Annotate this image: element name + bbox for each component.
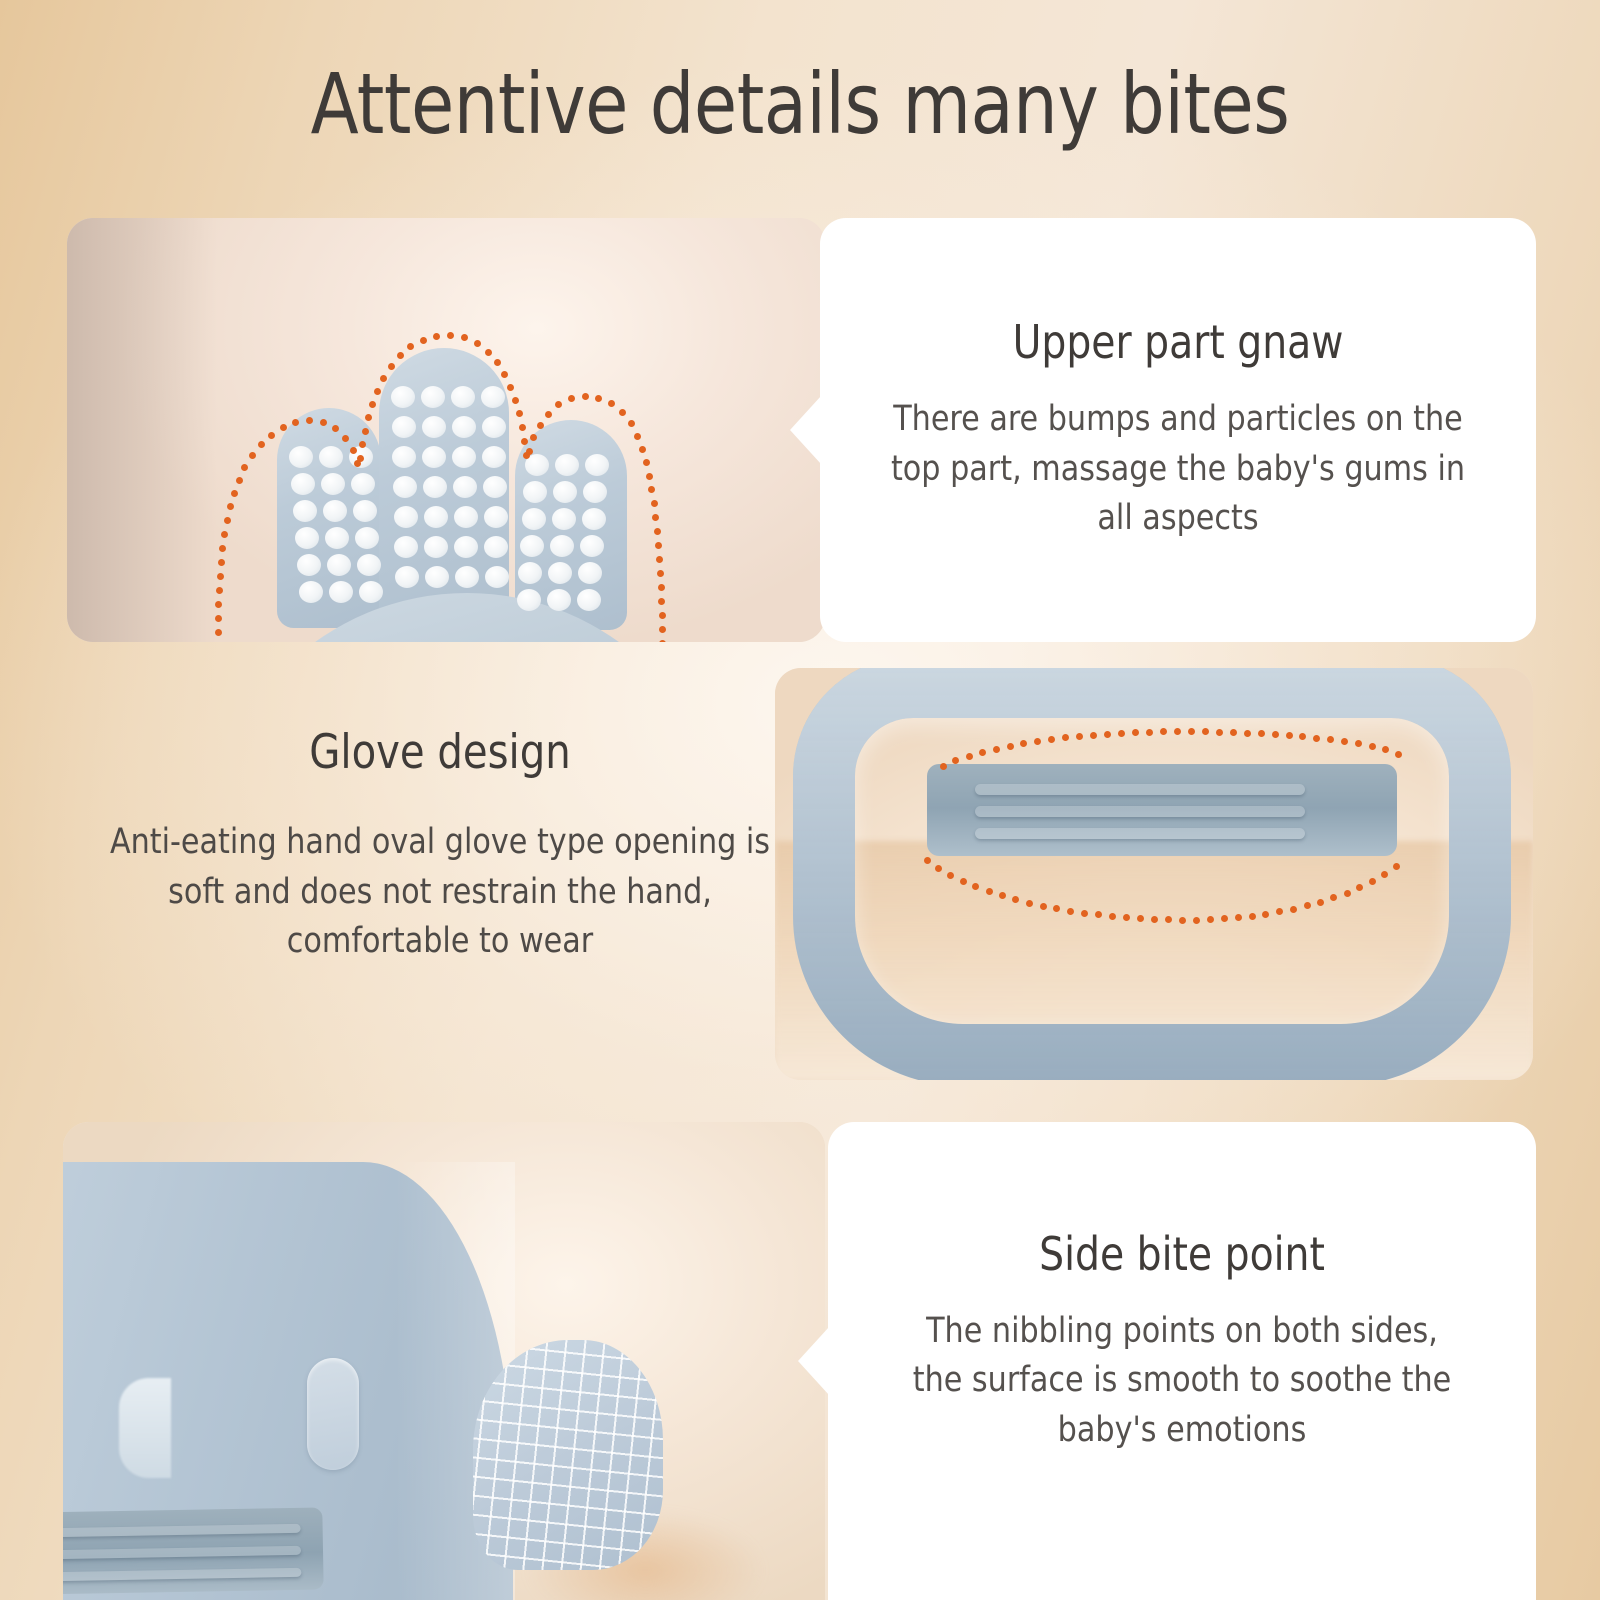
annotation-dot [224, 517, 231, 524]
annotation-dot [1146, 729, 1153, 736]
side-bite-point [473, 1340, 663, 1570]
annotation-dot [1355, 740, 1362, 747]
annotation-dot [1290, 906, 1297, 913]
bump-particle [454, 506, 478, 528]
annotation-dot [1193, 917, 1200, 924]
annotation-dot [521, 438, 528, 445]
annotation-dot [940, 763, 947, 770]
product-photo-glove-opening [775, 668, 1533, 1080]
annotation-dot [494, 359, 501, 366]
annotation-dot [215, 601, 222, 608]
card-heading: Side bite point [901, 1228, 1463, 1281]
annotation-dot [1081, 910, 1088, 917]
annotation-dot [1249, 913, 1256, 920]
annotation-dot [507, 384, 514, 391]
bump-particle [319, 446, 343, 468]
annotation-dot [1104, 731, 1111, 738]
bump-particle [392, 416, 416, 438]
bump-particle [483, 476, 507, 498]
bump-particle [550, 535, 574, 557]
annotation-dot [582, 393, 589, 400]
bump-particle [357, 554, 381, 576]
annotation-dot [651, 500, 658, 507]
bump-particle [359, 581, 383, 603]
product-photo-side-bite-point [63, 1122, 825, 1600]
annotation-dot [1123, 914, 1130, 921]
bump-particle [353, 500, 377, 522]
annotation-dot [420, 337, 427, 344]
bump-particle [482, 416, 506, 438]
annotation-dot [646, 473, 653, 480]
annotation-dot [485, 349, 492, 356]
annotation-dot [656, 556, 663, 563]
info-block-glove-design: Glove design Anti-eating hand oval glove… [70, 726, 810, 967]
bump-particle [453, 476, 477, 498]
annotation-dot [1067, 908, 1074, 915]
annotation-dot [519, 424, 526, 431]
bump-particle [517, 589, 541, 611]
annotation-dot [1369, 878, 1376, 885]
annotation-dot [374, 388, 381, 395]
annotation-dot [639, 446, 646, 453]
ribbed-bar [63, 1507, 324, 1594]
bump-particle [351, 473, 375, 495]
annotation-dot [1258, 730, 1265, 737]
bump-particle [295, 527, 319, 549]
bump-particle [325, 527, 349, 549]
annotation-dot [1040, 903, 1047, 910]
annotation-dot [1272, 731, 1279, 738]
bump-particle [421, 386, 445, 408]
annotation-dot [526, 448, 533, 455]
card-body-text: The nibbling points on both sides, the s… [898, 1307, 1466, 1456]
annotation-dot [1235, 914, 1242, 921]
bump-particle [555, 454, 579, 476]
bump-particle [522, 508, 546, 530]
annotation-dot [1216, 729, 1223, 736]
annotation-dot [1393, 863, 1400, 870]
teether-crown [267, 338, 667, 642]
annotation-dot [1202, 728, 1209, 735]
bump-particle [481, 386, 505, 408]
annotation-dot [280, 424, 287, 431]
bump-particle [580, 535, 604, 557]
annotation-dot [369, 401, 376, 408]
annotation-dot [634, 433, 641, 440]
annotation-dot [215, 615, 222, 622]
annotation-dot [657, 570, 664, 577]
crosshatch-texture [473, 1340, 663, 1570]
annotation-dot [474, 340, 481, 347]
annotation-dot [1344, 890, 1351, 897]
annotation-dot [1188, 728, 1195, 735]
annotation-dot [1034, 738, 1041, 745]
bump-particle [585, 454, 609, 476]
bump-particle [321, 473, 345, 495]
bump-particle [451, 386, 475, 408]
page-title: Attentive details many bites [56, 62, 1544, 146]
annotation-dot [643, 459, 650, 466]
annotation-dot [1132, 729, 1139, 736]
annotation-dot [215, 629, 222, 636]
bump-particle [552, 508, 576, 530]
bump-particle [455, 566, 479, 588]
bump-particle [425, 566, 449, 588]
annotation-dot [658, 584, 665, 591]
annotation-dot [654, 528, 661, 535]
bump-particle [424, 506, 448, 528]
card-body-text: There are bumps and particles on the top… [890, 395, 1466, 544]
bump-particle [485, 566, 509, 588]
annotation-dot [619, 409, 626, 416]
ribbed-crossbar [927, 764, 1397, 856]
bump-particle [452, 416, 476, 438]
annotation-dot [568, 395, 575, 402]
annotation-dot [362, 428, 369, 435]
annotation-dot [986, 888, 993, 895]
bump-particle [327, 554, 351, 576]
photo-shadow [67, 218, 217, 642]
annotation-dot [217, 573, 224, 580]
bump-particle [547, 589, 571, 611]
annotation-dot [1151, 916, 1158, 923]
annotation-dot [1007, 743, 1014, 750]
annotation-dot [993, 746, 1000, 753]
bump-particle [323, 500, 347, 522]
bump-particle [520, 535, 544, 557]
info-card-side-bite-point: Side bite point The nibbling points on b… [828, 1122, 1536, 1600]
annotation-dot [1230, 729, 1237, 736]
annotation-dot [960, 878, 967, 885]
info-card-upper-part-gnaw: Upper part gnaw There are bumps and part… [820, 218, 1536, 642]
annotation-dot [1090, 732, 1097, 739]
annotation-dot [1317, 899, 1324, 906]
annotation-dot [1076, 733, 1083, 740]
block-body-text: Anti-eating hand oval glove type opening… [85, 818, 795, 967]
bump-particle [423, 476, 447, 498]
annotation-dot [306, 417, 313, 424]
annotation-dot [659, 626, 666, 633]
annotation-dot [1109, 913, 1116, 920]
annotation-dot [1244, 730, 1251, 737]
annotation-dot [268, 432, 275, 439]
annotation-dot [924, 857, 931, 864]
card-pointer-arrow [798, 1327, 829, 1395]
bump-particle [291, 473, 315, 495]
block-heading: Glove design [89, 726, 792, 780]
bump-particle [393, 476, 417, 498]
annotation-dot [1341, 738, 1348, 745]
teether-ear [119, 1378, 171, 1478]
bump-particle [297, 554, 321, 576]
bump-particle [577, 589, 601, 611]
bump-particle [355, 527, 379, 549]
annotation-dot [236, 477, 243, 484]
annotation-dot [231, 490, 238, 497]
annotation-dot [1207, 916, 1214, 923]
card-pointer-arrow [790, 396, 821, 464]
annotation-dot [545, 411, 552, 418]
annotation-dot [357, 455, 364, 462]
annotation-dot [1179, 917, 1186, 924]
annotation-dot [258, 441, 265, 448]
annotation-dot [659, 640, 666, 642]
annotation-dot [1174, 728, 1181, 735]
annotation-dot [320, 419, 327, 426]
bump-particle [329, 581, 353, 603]
annotation-dot [216, 587, 223, 594]
annotation-dot [1026, 900, 1033, 907]
annotation-dot [659, 612, 666, 619]
annotation-dot [628, 420, 635, 427]
bump-particle [391, 386, 415, 408]
card-heading: Upper part gnaw [893, 316, 1463, 369]
bump-particle [293, 500, 317, 522]
annotation-dot [1160, 728, 1167, 735]
annotation-dot [1118, 730, 1125, 737]
product-photo-upper-part [67, 218, 825, 642]
annotation-dot [512, 397, 519, 404]
annotation-dot [388, 363, 395, 370]
annotation-dot [1313, 735, 1320, 742]
annotation-dot [1048, 736, 1055, 743]
annotation-dot [537, 422, 544, 429]
annotation-dot [1137, 915, 1144, 922]
bump-particle [394, 506, 418, 528]
infographic-page: Attentive details many bites Upper part … [0, 0, 1600, 1600]
annotation-dot [1286, 732, 1293, 739]
annotation-dot [249, 452, 256, 459]
annotation-dot [947, 872, 954, 879]
annotation-dot [350, 447, 357, 454]
bump-particle [299, 581, 323, 603]
bump-particle [582, 508, 606, 530]
bump-particle [395, 566, 419, 588]
bump-particle [484, 506, 508, 528]
annotation-dot [1369, 743, 1376, 750]
teether-slot [307, 1358, 359, 1470]
annotation-dot [935, 865, 942, 872]
annotation-dot [218, 559, 225, 566]
annotation-dot [966, 753, 973, 760]
bump-particle [289, 446, 313, 468]
bump-particle [422, 416, 446, 438]
